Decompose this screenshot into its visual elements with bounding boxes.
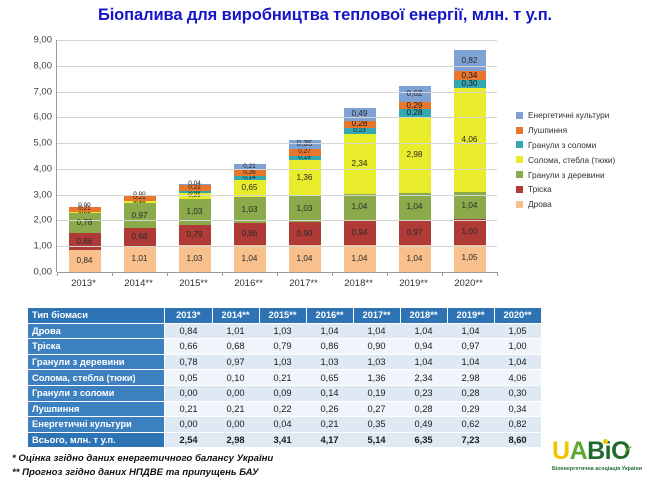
bar-segment[interactable]: 1,36 <box>289 160 321 195</box>
table-header-year: 2018** <box>400 308 447 323</box>
bar-segment-label: 0,82 <box>462 57 478 65</box>
legend-item[interactable]: Гранули з соломи <box>516 138 650 153</box>
y-tick-label: 7,00 <box>8 86 52 97</box>
table-row-label: Дрова <box>28 323 165 339</box>
bar-segment[interactable]: 0,29 <box>399 102 431 109</box>
logo-wordmark: UABiO <box>552 438 644 465</box>
table-cell-value: 1,03 <box>353 354 400 370</box>
table-cell-value: 0,97 <box>447 339 494 355</box>
bar-segment-label: 0,84 <box>77 257 93 265</box>
bar-segment[interactable]: 0,66 <box>69 233 101 250</box>
bar-segment[interactable]: 0,68 <box>124 228 156 246</box>
bar-segment[interactable]: 1,04 <box>454 192 486 219</box>
table-cell-value: 0,97 <box>212 354 259 370</box>
legend-swatch-icon <box>516 171 523 178</box>
x-axis-labels: 2013*2014**2015**2016**2017**2018**2019*… <box>56 278 496 296</box>
bar-segment-label: 0,90 <box>297 230 313 238</box>
logo-letter-u: U <box>552 437 570 465</box>
bar-segment-label: 0,19 <box>298 155 310 161</box>
bar-segment-label: 1,04 <box>297 255 313 263</box>
y-tick-label: 5,00 <box>8 138 52 149</box>
bar-segment[interactable]: 0,79 <box>179 225 211 245</box>
bar-segment[interactable]: 1,00 <box>454 219 486 245</box>
table-cell-value: 0,21 <box>306 417 353 433</box>
table-row-label: Лушпиння <box>28 401 165 417</box>
x-axis-tick <box>112 272 113 276</box>
y-tick-label: 6,00 <box>8 112 52 123</box>
table-row: Дрова0,841,011,031,041,041,041,041,05 <box>28 323 541 339</box>
bar-segment[interactable]: 0,28 <box>344 121 376 128</box>
table-cell-value: 8,60 <box>494 432 541 448</box>
table-row: Енергетичні культури0,000,000,040,210,35… <box>28 417 541 433</box>
table-cell-value: 4,17 <box>306 432 353 448</box>
bar-segment-label: 1,04 <box>407 203 423 211</box>
table-cell-value: 0,79 <box>259 339 306 355</box>
table-cell-value: 2,98 <box>212 432 259 448</box>
table-header-year: 2016** <box>306 308 353 323</box>
bar-segment[interactable]: 1,03 <box>234 197 266 224</box>
table-cell-value: 0,34 <box>494 401 541 417</box>
table-cell-value: 1,04 <box>400 354 447 370</box>
x-axis-tick <box>277 272 278 276</box>
bar-segment-label: 0,26 <box>243 170 255 176</box>
table-cell-value: 0,14 <box>306 385 353 401</box>
bar-segment[interactable]: 0,62 <box>399 86 431 102</box>
table-cell-value: 0,28 <box>447 385 494 401</box>
gridline <box>57 143 497 144</box>
gridline <box>57 195 497 196</box>
bar-segment[interactable]: 0,30 <box>454 80 486 88</box>
bar-segment-label: 1,04 <box>352 203 368 211</box>
bar-segment-label: 0,27 <box>298 149 310 155</box>
table-header-row: Тип біомаси2013*2014**2015**2016**2017**… <box>28 308 541 323</box>
table-cell-value: 0,62 <box>447 417 494 433</box>
bar-segment-label: 1,36 <box>297 174 313 182</box>
table-cell-value: 0,23 <box>400 385 447 401</box>
table-cell-value: 1,03 <box>259 354 306 370</box>
bar-column[interactable]: 1,010,680,970,100,000,210,00 <box>124 195 156 272</box>
gridline <box>57 117 497 118</box>
x-tick-label: 2016** <box>234 278 263 289</box>
y-axis-labels: 0,001,002,003,004,005,006,007,008,009,00 <box>8 32 52 272</box>
table-cell-value: 0,35 <box>353 417 400 433</box>
table-cell-value: 0,21 <box>259 370 306 386</box>
legend-swatch-icon <box>516 186 523 193</box>
table-cell-value: 4,06 <box>494 370 541 386</box>
bar-segment-label: 0,23 <box>353 128 365 134</box>
table-cell-value: 0,00 <box>165 417 213 433</box>
plot-area: 0,840,660,780,050,000,210,001,010,680,97… <box>56 40 497 272</box>
legend-label: Солома, стебла (тюки) <box>528 155 615 165</box>
table-cell-value: 0,68 <box>212 339 259 355</box>
y-tick-label: 2,00 <box>8 215 52 226</box>
table-cell-value: 2,98 <box>447 370 494 386</box>
bar-segment-label: 0,28 <box>407 109 423 117</box>
table-row: Солома, стебла (тюки)0,050,100,210,651,3… <box>28 370 541 386</box>
legend-item[interactable]: Тріска <box>516 182 650 197</box>
table-cell-value: 0,49 <box>400 417 447 433</box>
bar-segment[interactable]: 1,04 <box>344 194 376 221</box>
bar-segment[interactable]: 0,28 <box>399 109 431 116</box>
table-body: Дрова0,841,011,031,041,041,041,041,05Трі… <box>28 323 541 448</box>
legend-swatch-icon <box>516 156 523 163</box>
bar-segment[interactable]: 0,94 <box>344 221 376 245</box>
data-table-wrapper: Тип біомаси2013*2014**2015**2016**2017**… <box>28 308 542 448</box>
bar-segment[interactable]: 0,84 <box>69 250 101 272</box>
table-row-label: Всього, млн. т у.п. <box>28 432 165 448</box>
bar-segment-label: 0,28 <box>352 120 368 128</box>
table-cell-value: 0,00 <box>212 417 259 433</box>
table-cell-value: 0,27 <box>353 401 400 417</box>
gridline <box>57 246 497 247</box>
table-row: Гранули з деревини0,780,971,031,031,031,… <box>28 354 541 370</box>
table-cell-value: 0,28 <box>400 401 447 417</box>
table-cell-value: 0,66 <box>165 339 213 355</box>
bar-segment-label: 2,98 <box>407 151 423 159</box>
bar-segment-label: 0,79 <box>187 231 203 239</box>
y-tick-label: 4,00 <box>8 163 52 174</box>
bar-segment[interactable]: 0,86 <box>234 223 266 245</box>
bar-segment[interactable]: 4,06 <box>454 88 486 193</box>
bar-segment[interactable]: 1,04 <box>344 245 376 272</box>
bar-segment-label: 1,05 <box>462 254 478 262</box>
bar-segment-label: 1,04 <box>462 202 478 210</box>
table-cell-value: 0,65 <box>306 370 353 386</box>
table-row-label: Солома, стебла (тюки) <box>28 370 165 386</box>
gridline <box>57 92 497 93</box>
bar-segment-label: 1,01 <box>132 255 148 263</box>
x-axis-tick <box>332 272 333 276</box>
bar-segment[interactable]: 2,98 <box>399 117 431 194</box>
bar-column[interactable]: 0,840,660,780,050,000,210,00 <box>69 207 101 272</box>
x-tick-label: 2013* <box>71 278 96 289</box>
bar-segment-label: 0,97 <box>407 229 423 237</box>
table-cell-value: 1,01 <box>212 323 259 339</box>
bar-segment[interactable]: 1,01 <box>124 246 156 272</box>
table-cell-value: 1,00 <box>494 339 541 355</box>
bar-segment[interactable]: 0,19 <box>289 156 321 161</box>
uabio-logo: UABiO Біоенергетична асоціація України <box>552 438 644 482</box>
bar-segment[interactable]: 0,97 <box>124 203 156 228</box>
footnote-single-star: * Оцінка згідно даних енергетичного бала… <box>12 452 273 466</box>
table-total-row: Всього, млн. т у.п.2,542,983,414,175,146… <box>28 432 541 448</box>
table-cell-value: 0,84 <box>165 323 213 339</box>
y-tick-label: 3,00 <box>8 189 52 200</box>
y-tick-label: 0,00 <box>8 267 52 278</box>
data-table: Тип біомаси2013*2014**2015**2016**2017**… <box>28 308 542 448</box>
table-row: Тріска0,660,680,790,860,900,940,971,00 <box>28 339 541 355</box>
x-tick-label: 2020** <box>454 278 483 289</box>
legend-label: Енергетичні культури <box>528 110 609 120</box>
table-cell-value: 1,04 <box>494 354 541 370</box>
bar-segment[interactable]: 0,04 <box>179 184 211 185</box>
table-header-year: 2013* <box>165 308 213 323</box>
bar-column[interactable]: 1,030,791,030,210,090,220,04 <box>179 184 211 272</box>
logo-leaf-icon <box>622 445 635 458</box>
legend-item[interactable]: Дрова <box>516 197 650 212</box>
logo-tagline: Біоенергетична асоціація України <box>552 466 644 472</box>
legend-swatch-icon <box>516 141 523 148</box>
table-row-label: Енергетичні культури <box>28 417 165 433</box>
bar-segment-label: 1,00 <box>462 228 478 236</box>
bar-segment-label: 0,00 <box>78 203 90 209</box>
table-cell-value: 1,03 <box>306 354 353 370</box>
y-tick-label: 1,00 <box>8 241 52 252</box>
bar-column[interactable]: 1,040,971,042,980,280,290,62 <box>399 86 431 272</box>
gridline <box>57 66 497 67</box>
table-row: Лушпиння0,210,210,220,260,270,280,290,34 <box>28 401 541 417</box>
bar-segment[interactable]: 1,04 <box>399 245 431 272</box>
bar-segment-label: 0,68 <box>132 233 148 241</box>
bar-column[interactable]: 1,040,861,030,650,140,260,21 <box>234 164 266 272</box>
bar-segment[interactable]: 0,82 <box>454 50 486 71</box>
table-cell-value: 0,09 <box>259 385 306 401</box>
bar-segment[interactable]: 0,14 <box>234 176 266 180</box>
x-axis-tick <box>57 272 58 276</box>
gridline <box>57 220 497 221</box>
bar-segment-label: 0,66 <box>77 238 93 246</box>
legend-item[interactable]: Енергетичні культури <box>516 108 650 123</box>
bar-segment-label: 1,03 <box>297 205 313 213</box>
y-tick-label: 9,00 <box>8 35 52 46</box>
table-cell-value: 1,04 <box>447 323 494 339</box>
table-cell-value: 0,21 <box>165 401 213 417</box>
table-cell-value: 0,00 <box>165 385 213 401</box>
table-header-year: 2015** <box>259 308 306 323</box>
bar-segment-label: 0,34 <box>462 72 478 80</box>
table-header-year: 2020** <box>494 308 541 323</box>
table-cell-value: 0,19 <box>353 385 400 401</box>
legend-item[interactable]: Лушпиння <box>516 123 650 138</box>
bar-segment[interactable]: 1,04 <box>234 245 266 272</box>
bar-column[interactable]: 1,051,001,044,060,300,340,82 <box>454 50 486 272</box>
x-axis-tick <box>387 272 388 276</box>
gridline <box>57 40 497 41</box>
bar-segment-label: 0,65 <box>242 184 258 192</box>
bar-segment[interactable]: 0,78 <box>69 213 101 233</box>
bar-segment-label: 1,03 <box>187 208 203 216</box>
x-tick-label: 2014** <box>124 278 153 289</box>
gridline <box>57 169 497 170</box>
bar-segment[interactable]: 0,34 <box>454 71 486 80</box>
bar-segment-label: 1,04 <box>352 255 368 263</box>
x-tick-label: 2019** <box>399 278 428 289</box>
bar-segment[interactable]: 0,49 <box>344 108 376 121</box>
x-tick-label: 2015** <box>179 278 208 289</box>
table-cell-value: 0,29 <box>447 401 494 417</box>
table-cell-value: 0,82 <box>494 417 541 433</box>
table-row: Гранули з соломи0,000,000,090,140,190,23… <box>28 385 541 401</box>
table-cell-value: 1,05 <box>494 323 541 339</box>
x-tick-label: 2018** <box>344 278 373 289</box>
table-cell-value: 0,30 <box>494 385 541 401</box>
bar-segment[interactable]: 0,90 <box>289 222 321 245</box>
bar-segment-label: 2,34 <box>352 160 368 168</box>
x-axis-tick <box>497 272 498 276</box>
table-cell-value: 0,78 <box>165 354 213 370</box>
legend-label: Лушпиння <box>528 125 567 135</box>
bar-segment-label: 1,04 <box>242 255 258 263</box>
bar-segment[interactable]: 1,03 <box>179 245 211 272</box>
table-cell-value: 0,26 <box>306 401 353 417</box>
bar-segment-label: 0,86 <box>242 230 258 238</box>
table-cell-value: 1,04 <box>306 323 353 339</box>
table-cell-value: 1,04 <box>447 354 494 370</box>
table-cell-value: 0,90 <box>353 339 400 355</box>
table-cell-value: 0,94 <box>400 339 447 355</box>
bar-segment[interactable]: 1,05 <box>454 245 486 272</box>
bar-segment-label: 1,03 <box>187 255 203 263</box>
table-cell-value: 0,04 <box>259 417 306 433</box>
bar-segment[interactable]: 1,04 <box>399 193 431 220</box>
table-cell-value: 7,23 <box>447 432 494 448</box>
table-cell-value: 2,54 <box>165 432 213 448</box>
logo-leaf-dot-icon <box>603 439 608 444</box>
bar-segment-label: 0,97 <box>132 212 148 220</box>
bar-segment-label: 0,30 <box>462 80 478 88</box>
footnotes: * Оцінка згідно даних енергетичного бала… <box>12 452 273 480</box>
table-cell-value: 0,21 <box>212 401 259 417</box>
table-cell-value: 2,34 <box>400 370 447 386</box>
bar-segment[interactable]: 0,23 <box>344 128 376 134</box>
table-cell-value: 0,86 <box>306 339 353 355</box>
table-cell-value: 1,03 <box>259 323 306 339</box>
bar-segment[interactable]: 1,04 <box>289 245 321 272</box>
x-tick-label: 2017** <box>289 278 318 289</box>
slide-root: Біопалива для виробництва теплової енерг… <box>0 0 650 484</box>
legend-label: Гранули з соломи <box>528 140 596 150</box>
table-header-year: 2019** <box>447 308 494 323</box>
legend-item[interactable]: Гранули з деревини <box>516 167 650 182</box>
bar-segment[interactable]: 0,26 <box>234 169 266 176</box>
table-cell-value: 0,22 <box>259 401 306 417</box>
footnote-double-star: ** Прогноз згідно даних НПДВЕ та припуще… <box>12 466 273 480</box>
table-cell-value: 1,04 <box>400 323 447 339</box>
table-row-label: Гранули з деревини <box>28 354 165 370</box>
logo-letter-a: A <box>570 437 588 465</box>
table-cell-value: 1,36 <box>353 370 400 386</box>
bar-segment-label: 0,94 <box>352 229 368 237</box>
table-row-label: Гранули з соломи <box>28 385 165 401</box>
table-header-year: 2017** <box>353 308 400 323</box>
bar-segment[interactable]: 0,27 <box>289 149 321 156</box>
table-row-label: Тріска <box>28 339 165 355</box>
bar-segment-label: 0,04 <box>188 181 200 187</box>
legend-item[interactable]: Солома, стебла (тюки) <box>516 152 650 167</box>
bar-segment-label: 1,04 <box>407 255 423 263</box>
legend-label: Дрова <box>528 199 552 209</box>
legend-swatch-icon <box>516 127 523 134</box>
legend-swatch-icon <box>516 112 523 119</box>
table-cell-value: 6,35 <box>400 432 447 448</box>
bar-segment[interactable]: 1,03 <box>289 195 321 222</box>
y-tick-label: 8,00 <box>8 60 52 71</box>
table-cell-value: 5,14 <box>353 432 400 448</box>
bar-segment-label: 0,29 <box>407 102 423 110</box>
legend-swatch-icon <box>516 201 523 208</box>
table-cell-value: 3,41 <box>259 432 306 448</box>
x-axis-tick <box>167 272 168 276</box>
table-header-year: 2014** <box>212 308 259 323</box>
page-title: Біопалива для виробництва теплової енерг… <box>0 6 650 25</box>
bar-series-container: 0,840,660,780,050,000,210,001,010,680,97… <box>57 40 497 272</box>
table-cell-value: 0,10 <box>212 370 259 386</box>
table-cell-value: 1,04 <box>353 323 400 339</box>
x-axis-tick <box>222 272 223 276</box>
bar-column[interactable]: 1,040,941,042,340,230,280,49 <box>344 108 376 272</box>
bar-column[interactable]: 1,040,901,031,360,190,270,35 <box>289 140 321 272</box>
legend-label: Гранули з деревини <box>528 170 605 180</box>
table-header-biomass-type: Тип біомаси <box>28 308 165 323</box>
legend-label: Тріска <box>528 184 552 194</box>
table-cell-value: 0,00 <box>212 385 259 401</box>
bar-segment[interactable]: 0,97 <box>399 220 431 245</box>
bar-segment-label: 1,03 <box>242 206 258 214</box>
chart-legend: Енергетичні культуриЛушпинняГранули з со… <box>516 108 650 212</box>
table-cell-value: 0,05 <box>165 370 213 386</box>
x-axis-tick <box>442 272 443 276</box>
